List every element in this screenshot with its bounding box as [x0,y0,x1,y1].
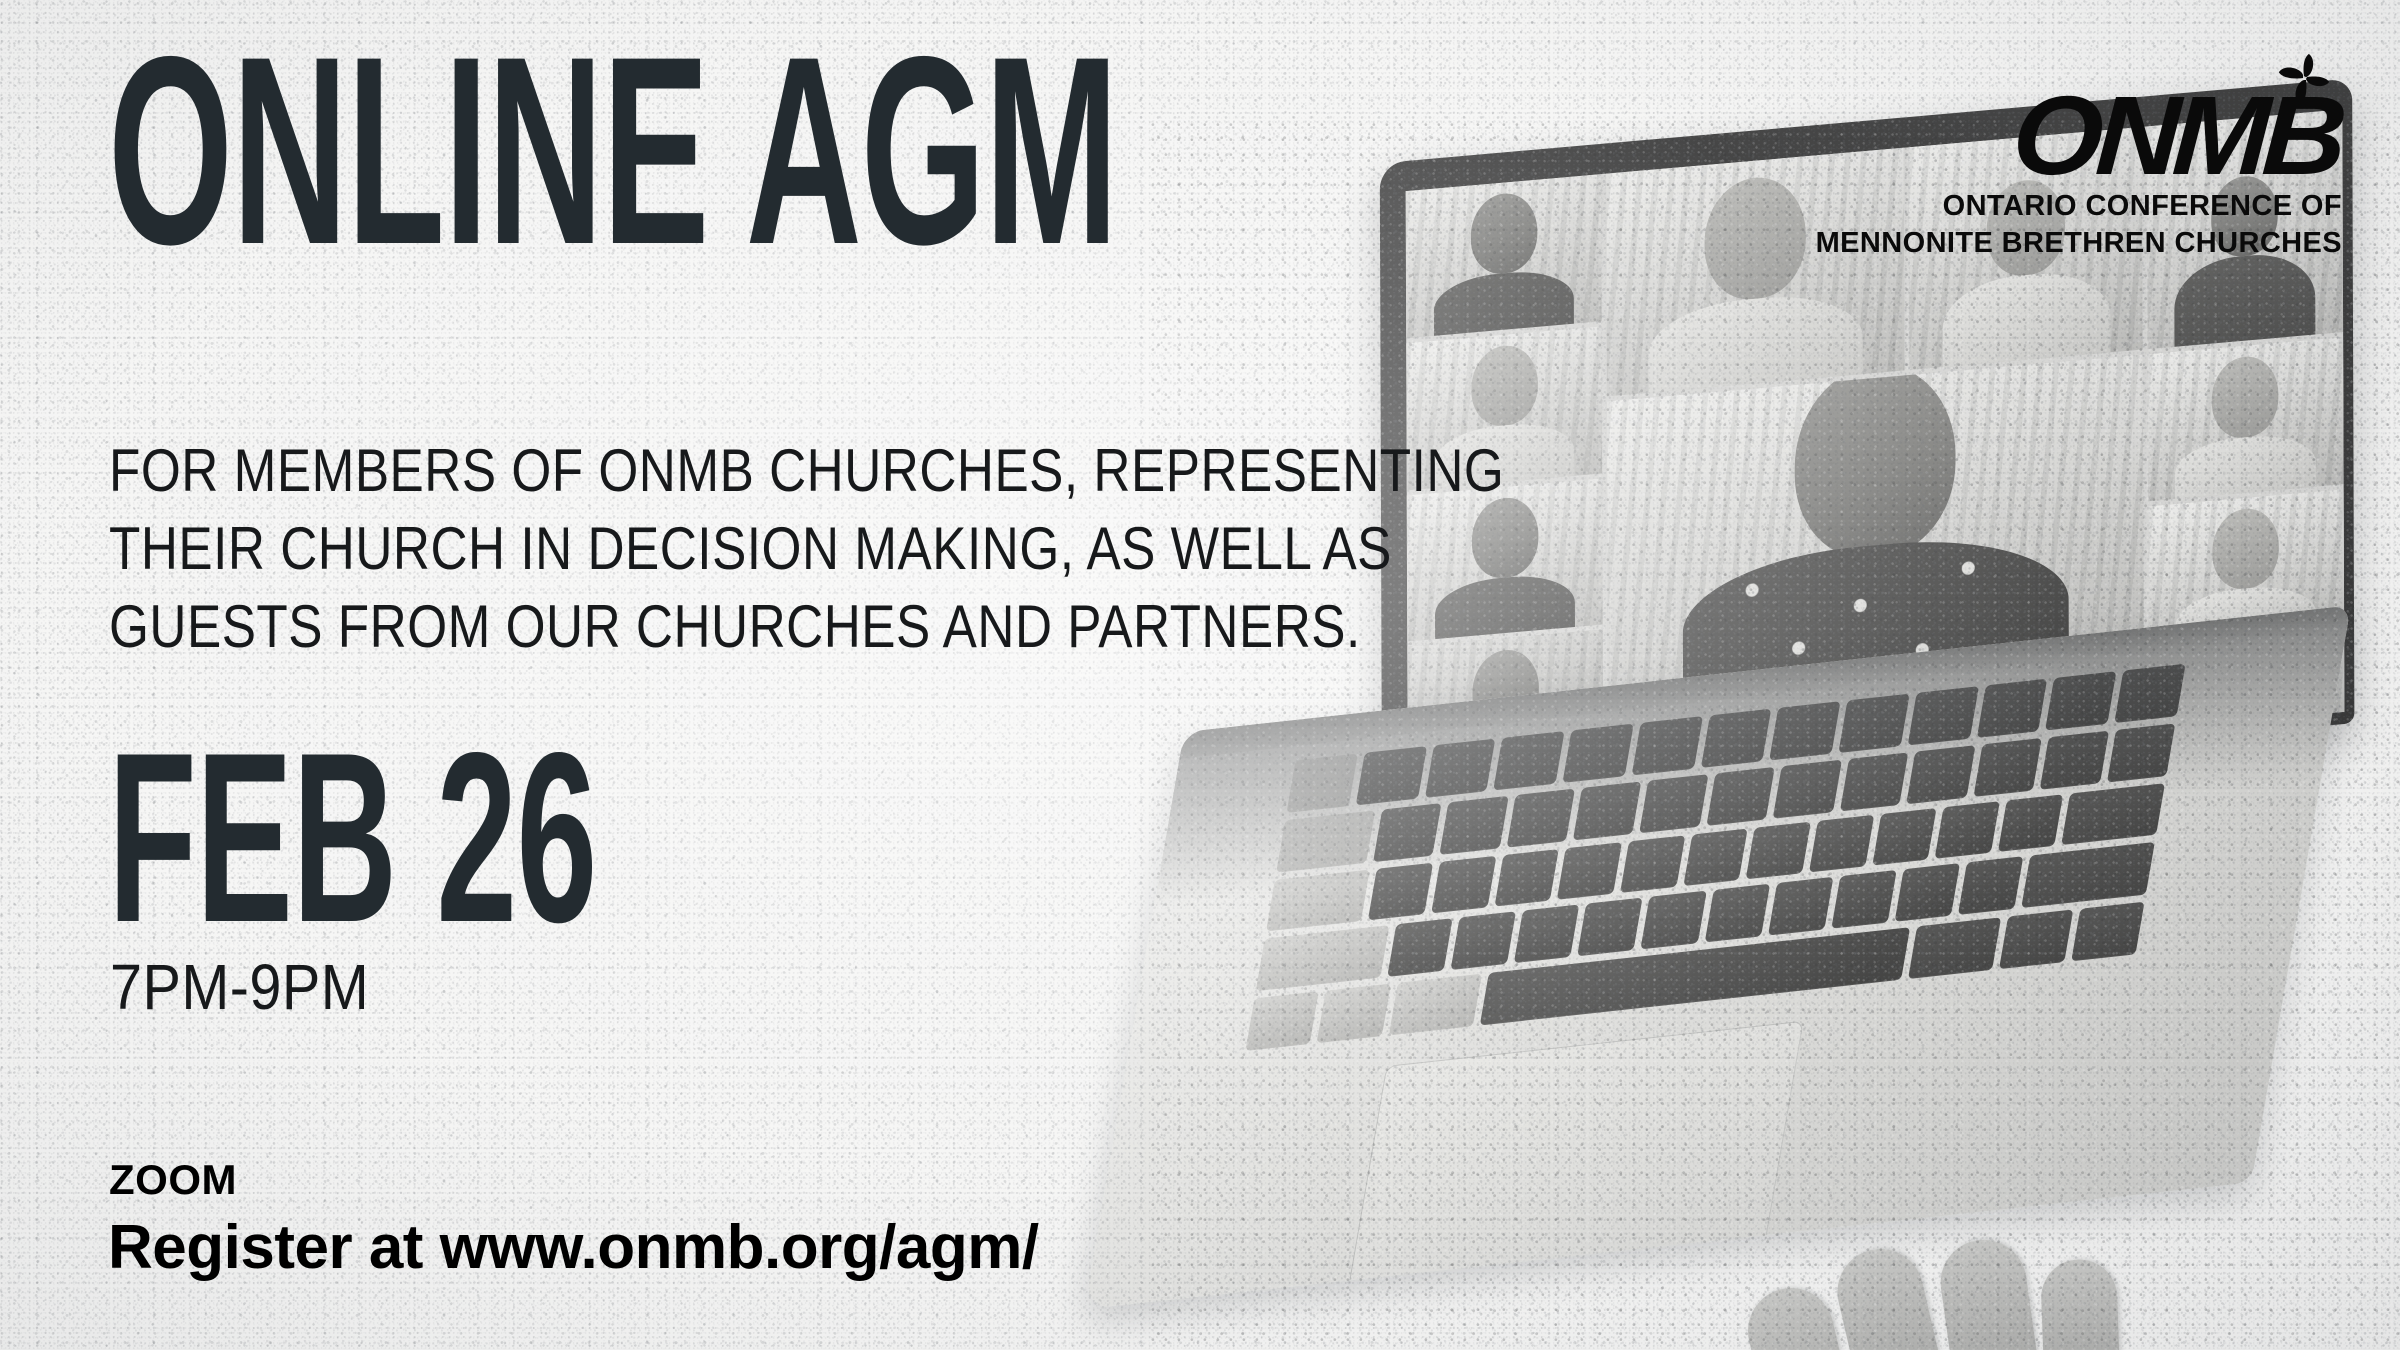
event-time: 7PM-9PM [110,955,369,1019]
description-line: FOR MEMBERS OF ONMB CHURCHES, REPRESENTI… [109,432,1323,510]
description-paragraph: FOR MEMBERS OF ONMB CHURCHES, REPRESENTI… [109,432,1323,666]
page-title: ONLINE AGM [108,46,1117,255]
platform-label: ZOOM [109,1159,237,1201]
logo-mark-row: ONMB [1816,52,2342,180]
four-petal-flower-icon [2274,48,2336,110]
text-column: ONLINE AGM FOR MEMBERS OF ONMB CHURCHES,… [108,0,1418,1350]
logo-tagline: ONTARIO CONFERENCE OF MENNONITE BRETHREN… [1816,188,2342,262]
description-line: THEIR CHURCH IN DECISION MAKING, AS WELL… [109,510,1323,588]
logo-tagline-line: MENNONITE BRETHREN CHURCHES [1816,225,2342,262]
description-line: GUESTS FROM OUR CHURCHES AND PARTNERS. [109,588,1323,666]
event-date: FEB 26 [108,742,597,936]
participant-tile [2148,337,2344,501]
register-link[interactable]: Register at www.onmb.org/agm/ [108,1217,1039,1279]
onmb-logo[interactable]: ONMB ONTARIO CONFERENCE OF MENNONITE BRE… [1816,52,2342,262]
participant-tile [1406,174,1602,338]
poster-canvas: ONLINE AGM FOR MEMBERS OF ONMB CHURCHES,… [0,0,2400,1350]
